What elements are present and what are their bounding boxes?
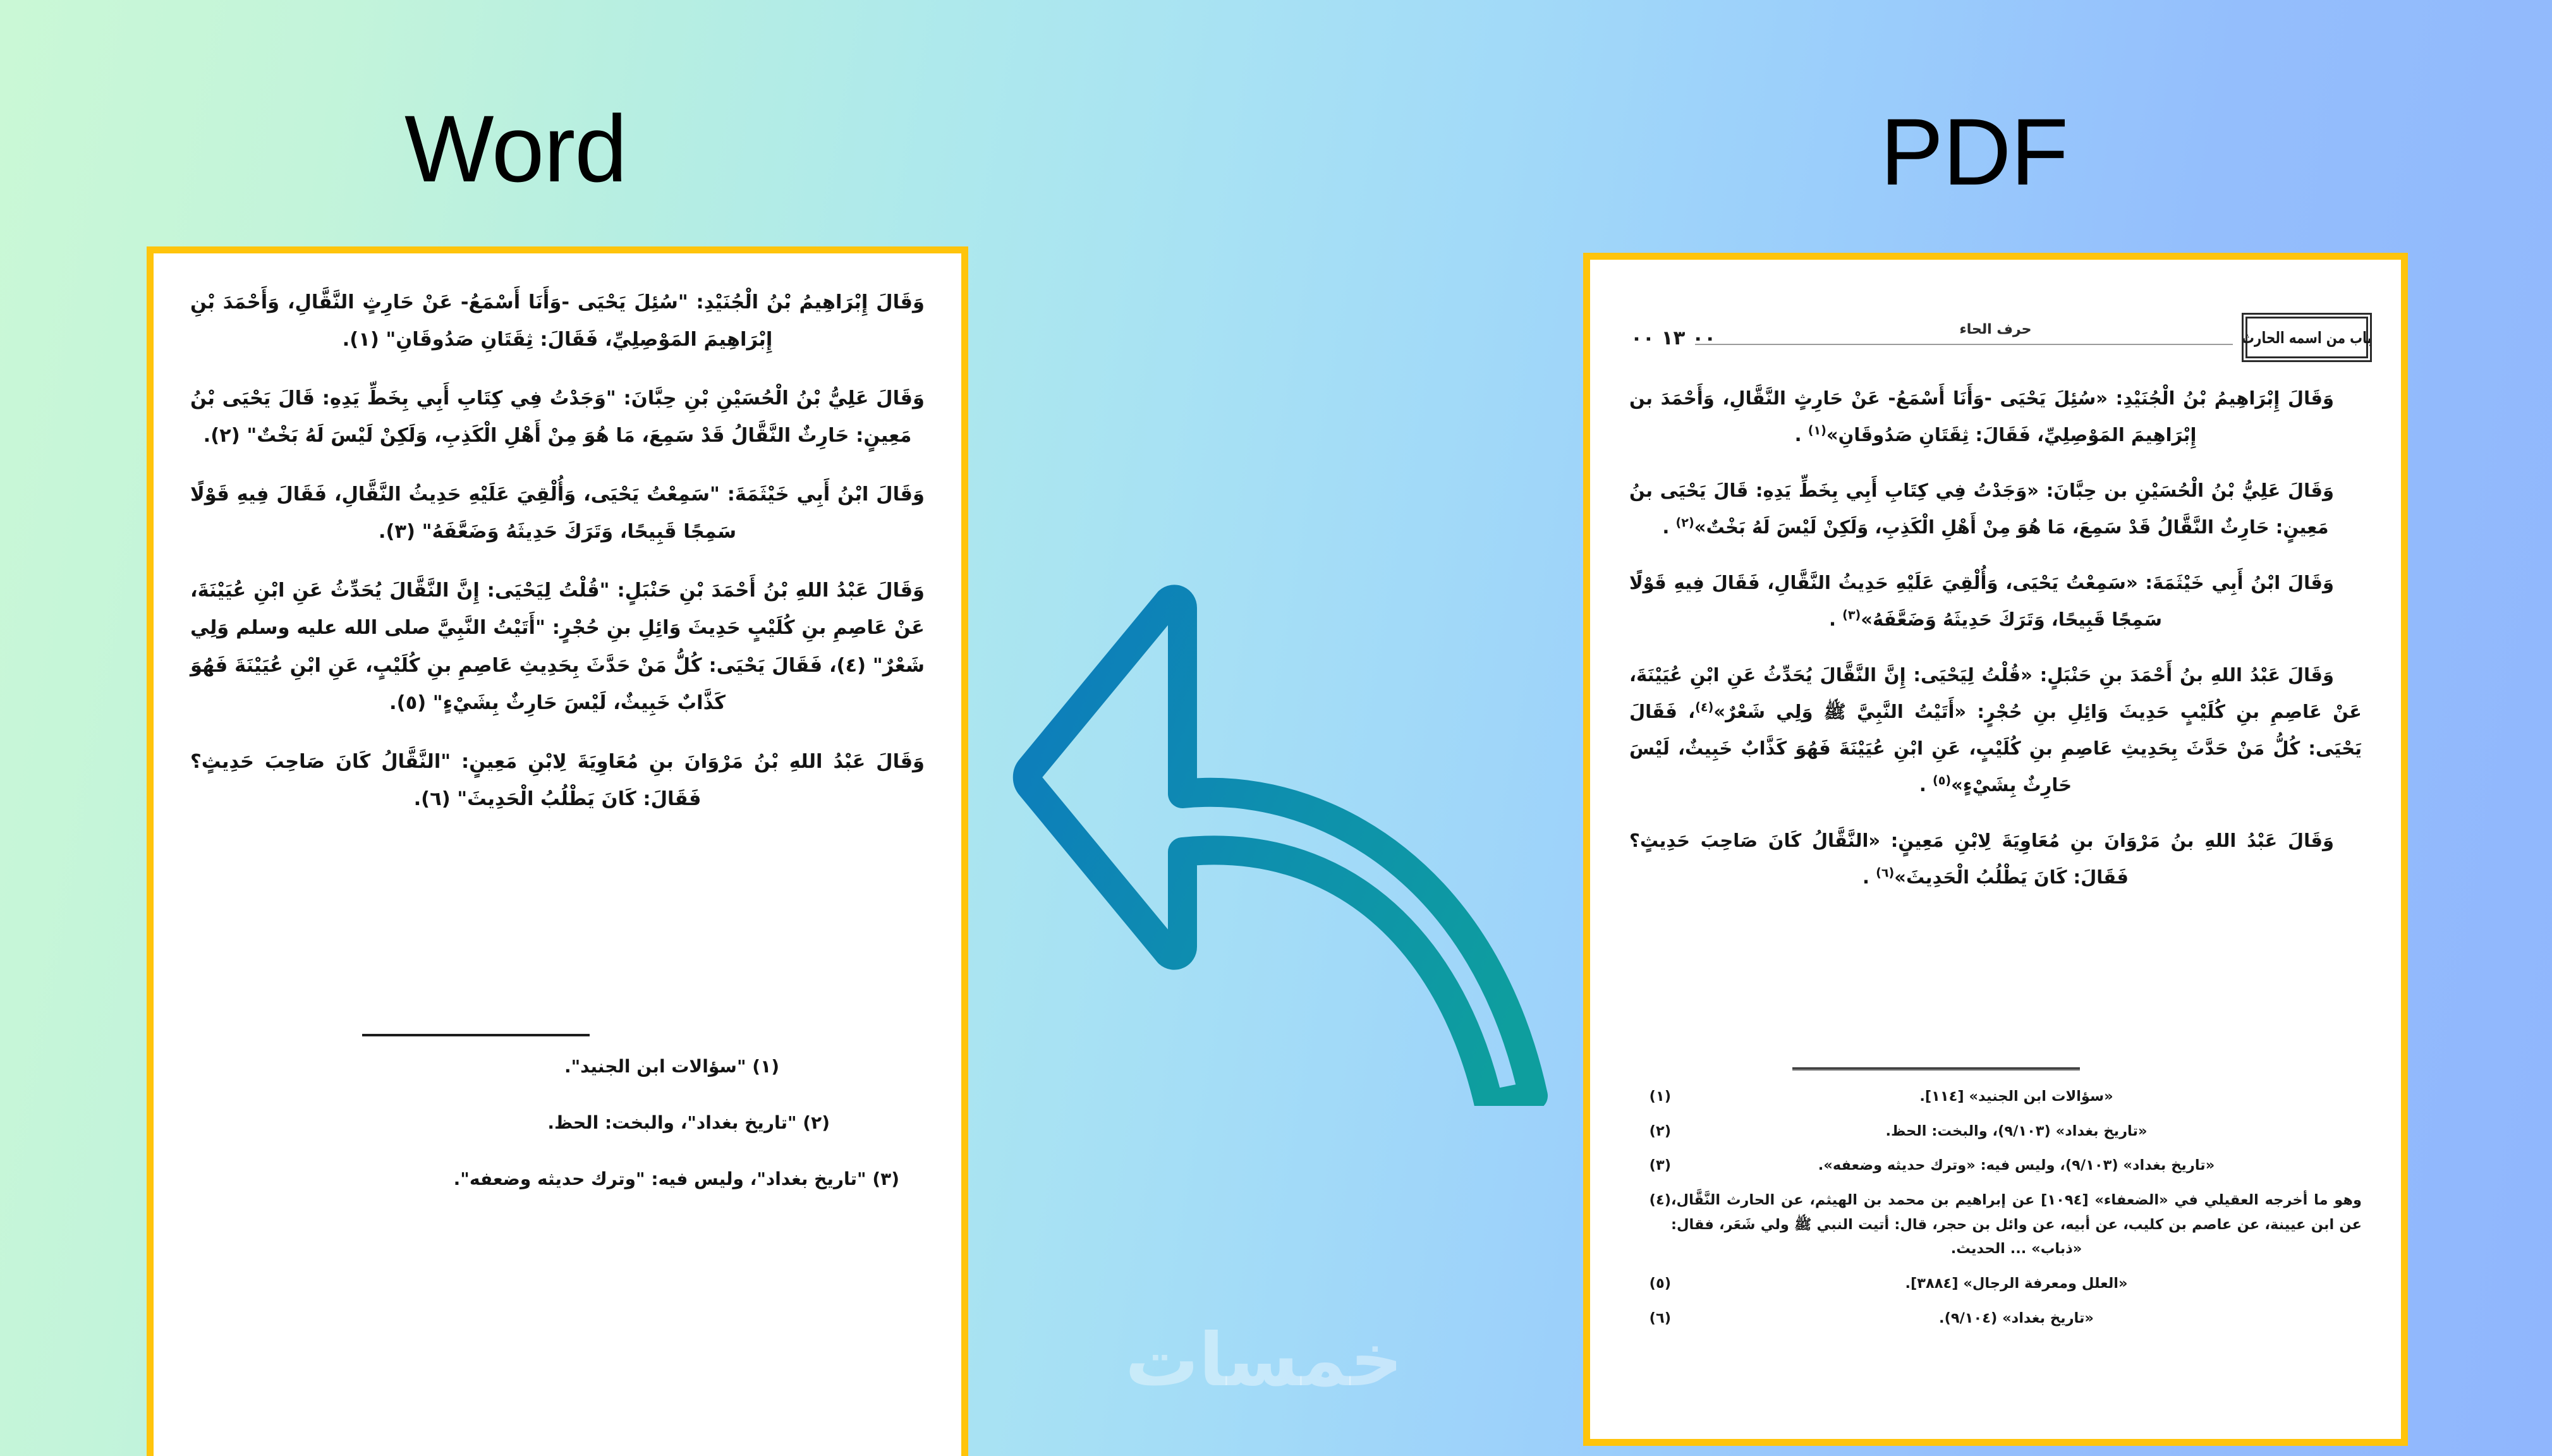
word-footnote-separator — [362, 1034, 590, 1036]
pdf-footnote: (٦) «تاريخ بغداد» (٩/١٠٤). — [1629, 1306, 2362, 1331]
pdf-paragraph: وَقَالَ ابْنُ أَبِي خَيْثَمَةَ: «سَمِعْت… — [1629, 564, 2362, 638]
word-panel-title: Word — [404, 101, 627, 196]
pdf-footnote-ref: (٥) — [1933, 773, 1951, 787]
conversion-arrow — [1011, 569, 1580, 1106]
pdf-body: وَقَالَ إِبْرَاهِيمُ بْنُ الْجُنَيْدِ: «… — [1629, 380, 2362, 914]
word-footnote: (٢) "تاريخ بغداد"، والبخت: الحظ. — [190, 1109, 925, 1137]
pdf-footnote-ref: (٣) — [1842, 607, 1861, 622]
pdf-paragraph-text: وَقَالَ ابْنُ أَبِي خَيْثَمَةَ: «سَمِعْت… — [1629, 572, 2334, 630]
pdf-footnote: (٢) «تاريخ بغداد» (٩/١٠٣)، والبخت: الحظ. — [1629, 1119, 2362, 1144]
pdf-footnote-text: «العلل ومعرفة الرجال» [٣٨٨٤]. — [1671, 1271, 2362, 1296]
watermark-text: خمسات — [1068, 1324, 1460, 1397]
pdf-footnote-ref: (٢) — [1676, 515, 1694, 530]
pdf-paragraph-text: وَقَالَ عَلِيُّ بْنُ الْحُسَيْنِ بن حِبَ… — [1629, 480, 2334, 538]
pdf-header-rule — [1695, 344, 2233, 345]
word-body: وَقَالَ إِبْرَاهِيمُ بْنُ الْجُنَيْدِ: "… — [190, 284, 925, 839]
pdf-header-ornament-box: باب من اسمه الحارث — [2242, 313, 2372, 362]
pdf-paragraph-text: وَقَالَ عَبْدُ اللهِ بنُ مَرْوَانَ بنِ م… — [1629, 830, 2334, 888]
pdf-footnote-number: (٣) — [1629, 1153, 1671, 1178]
pdf-paragraph: وَقَالَ عَبْدُ اللهِ بنُ أَحْمَدَ بنِ حَ… — [1629, 657, 2362, 803]
pdf-footnote-text: «سؤالات ابن الجنيد» [١١٤]. — [1671, 1084, 2362, 1109]
pdf-footnote-number: (٦) — [1629, 1306, 1671, 1331]
pdf-footnote-text: وهو ما أخرجه العقيلي في «الضعفاء» [١٠٩٤]… — [1671, 1188, 2362, 1261]
word-paragraph: وَقَالَ إِبْرَاهِيمُ بْنُ الْجُنَيْدِ: "… — [190, 284, 925, 359]
pdf-footnote-number: (٥) — [1629, 1271, 1671, 1296]
pdf-footnote: (٣) «تاريخ بغداد» (٩/١٠٣)، وليس فيه: «وت… — [1629, 1153, 2362, 1178]
pdf-paragraph-text: وَقَالَ عَبْدُ اللهِ بنُ أَحْمَدَ بنِ حَ… — [1629, 664, 2362, 722]
word-paragraph: وَقَالَ ابْنُ أَبِي خَيْثَمَةَ: "سَمِعْت… — [190, 476, 925, 551]
pdf-footnote: (١) «سؤالات ابن الجنيد» [١١٤]. — [1629, 1084, 2362, 1109]
pdf-header-ornament-text: باب من اسمه الحارث — [2242, 328, 2372, 347]
pdf-paragraph: وَقَالَ عَبْدُ اللهِ بنُ مَرْوَانَ بنِ م… — [1629, 822, 2362, 895]
word-paragraph: وَقَالَ عَبْدُ اللهِ بْنُ مَرْوَانَ بنِ … — [190, 743, 925, 818]
pdf-footnote-text: «تاريخ بغداد» (٩/١٠٣)، وليس فيه: «وترك ح… — [1671, 1153, 2362, 1178]
pdf-footnote: (٤) وهو ما أخرجه العقيلي في «الضعفاء» [١… — [1629, 1188, 2362, 1261]
word-document-page: وَقَالَ إِبْرَاهِيمُ بْنُ الْجُنَيْدِ: "… — [147, 246, 968, 1456]
pdf-paragraph: وَقَالَ إِبْرَاهِيمُ بْنُ الْجُنَيْدِ: «… — [1629, 380, 2362, 453]
pdf-document-page: ٠٠ ١٣ ٠٠ حرف الحاء باب من اسمه الحارث وَ… — [1583, 253, 2408, 1446]
word-footnote: (١) "سؤالات ابن الجنيد". — [190, 1053, 925, 1081]
word-paragraph: وَقَالَ عَلِيُّ بْنُ الْحُسَيْنِ بْنِ حِ… — [190, 380, 925, 455]
pdf-footnote-ref: (٤) — [1695, 700, 1713, 714]
pdf-footnote-text: «تاريخ بغداد» (٩/١٠٣)، والبخت: الحظ. — [1671, 1119, 2362, 1144]
word-footnotes: (١) "سؤالات ابن الجنيد". (٢) "تاريخ بغدا… — [190, 1053, 925, 1221]
pdf-paragraph-text: وَقَالَ إِبْرَاهِيمُ بْنُ الْجُنَيْدِ: «… — [1629, 387, 2334, 446]
word-paragraph: وَقَالَ عَبْدُ اللهِ بْنُ أَحْمَدَ بْنِ … — [190, 572, 925, 722]
pdf-running-header: ٠٠ ١٣ ٠٠ حرف الحاء باب من اسمه الحارث — [1619, 323, 2372, 361]
pdf-footnote-number: (٤) — [1629, 1188, 1671, 1261]
pdf-footnote-text: «تاريخ بغداد» (٩/١٠٤). — [1671, 1306, 2362, 1331]
pdf-footnotes: (١) «سؤالات ابن الجنيد» [١١٤]. (٢) «تاري… — [1629, 1084, 2362, 1341]
pdf-footnote: (٥) «العلل ومعرفة الرجال» [٣٨٨٤]. — [1629, 1271, 2362, 1296]
word-footnote: (٣) "تاريخ بغداد"، وليس فيه: "وترك حديثه… — [190, 1165, 925, 1194]
pdf-panel-title: PDF — [1880, 104, 2068, 199]
pdf-footnote-number: (١) — [1629, 1084, 1671, 1109]
pdf-footnote-ref: (٦) — [1876, 865, 1894, 880]
comparison-graphic: Word PDF وَقَالَ إِبْرَاهِيمُ بْنُ الْجُ… — [0, 0, 2552, 1456]
pdf-footnote-ref: (١) — [1808, 423, 1826, 437]
pdf-paragraph: وَقَالَ عَلِيُّ بْنُ الْحُسَيْنِ بن حِبَ… — [1629, 472, 2362, 545]
pdf-footnote-separator — [1792, 1067, 2080, 1071]
pdf-footnote-number: (٢) — [1629, 1119, 1671, 1144]
